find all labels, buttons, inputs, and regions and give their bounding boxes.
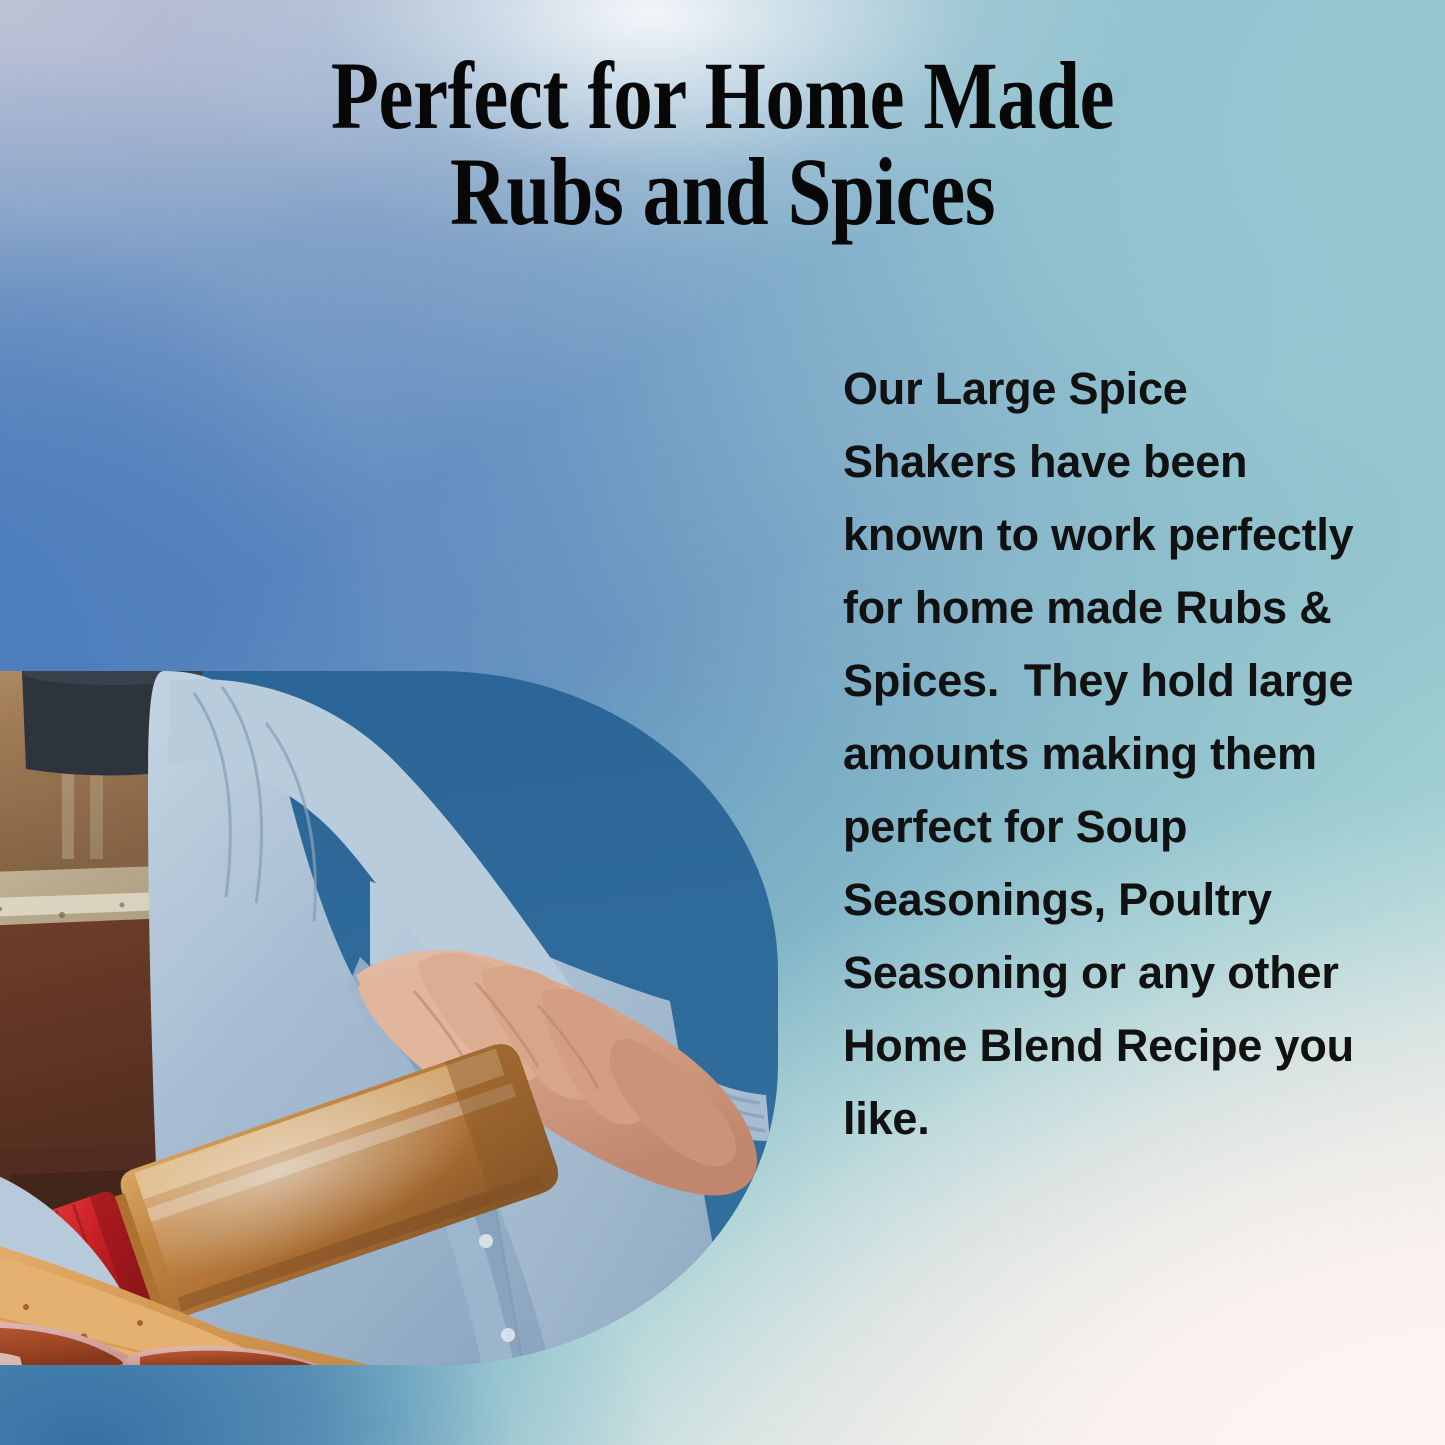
- page-title: Perfect for Home Made Rubs and Spices: [130, 48, 1315, 240]
- product-description-text: Our Large Spice Shakers have been known …: [843, 352, 1363, 1155]
- promo-graphic: Perfect for Home Made Rubs and Spices Ou…: [0, 0, 1445, 1445]
- product-use-photo: [0, 671, 778, 1365]
- kitchen-scene-illustration: [0, 671, 778, 1365]
